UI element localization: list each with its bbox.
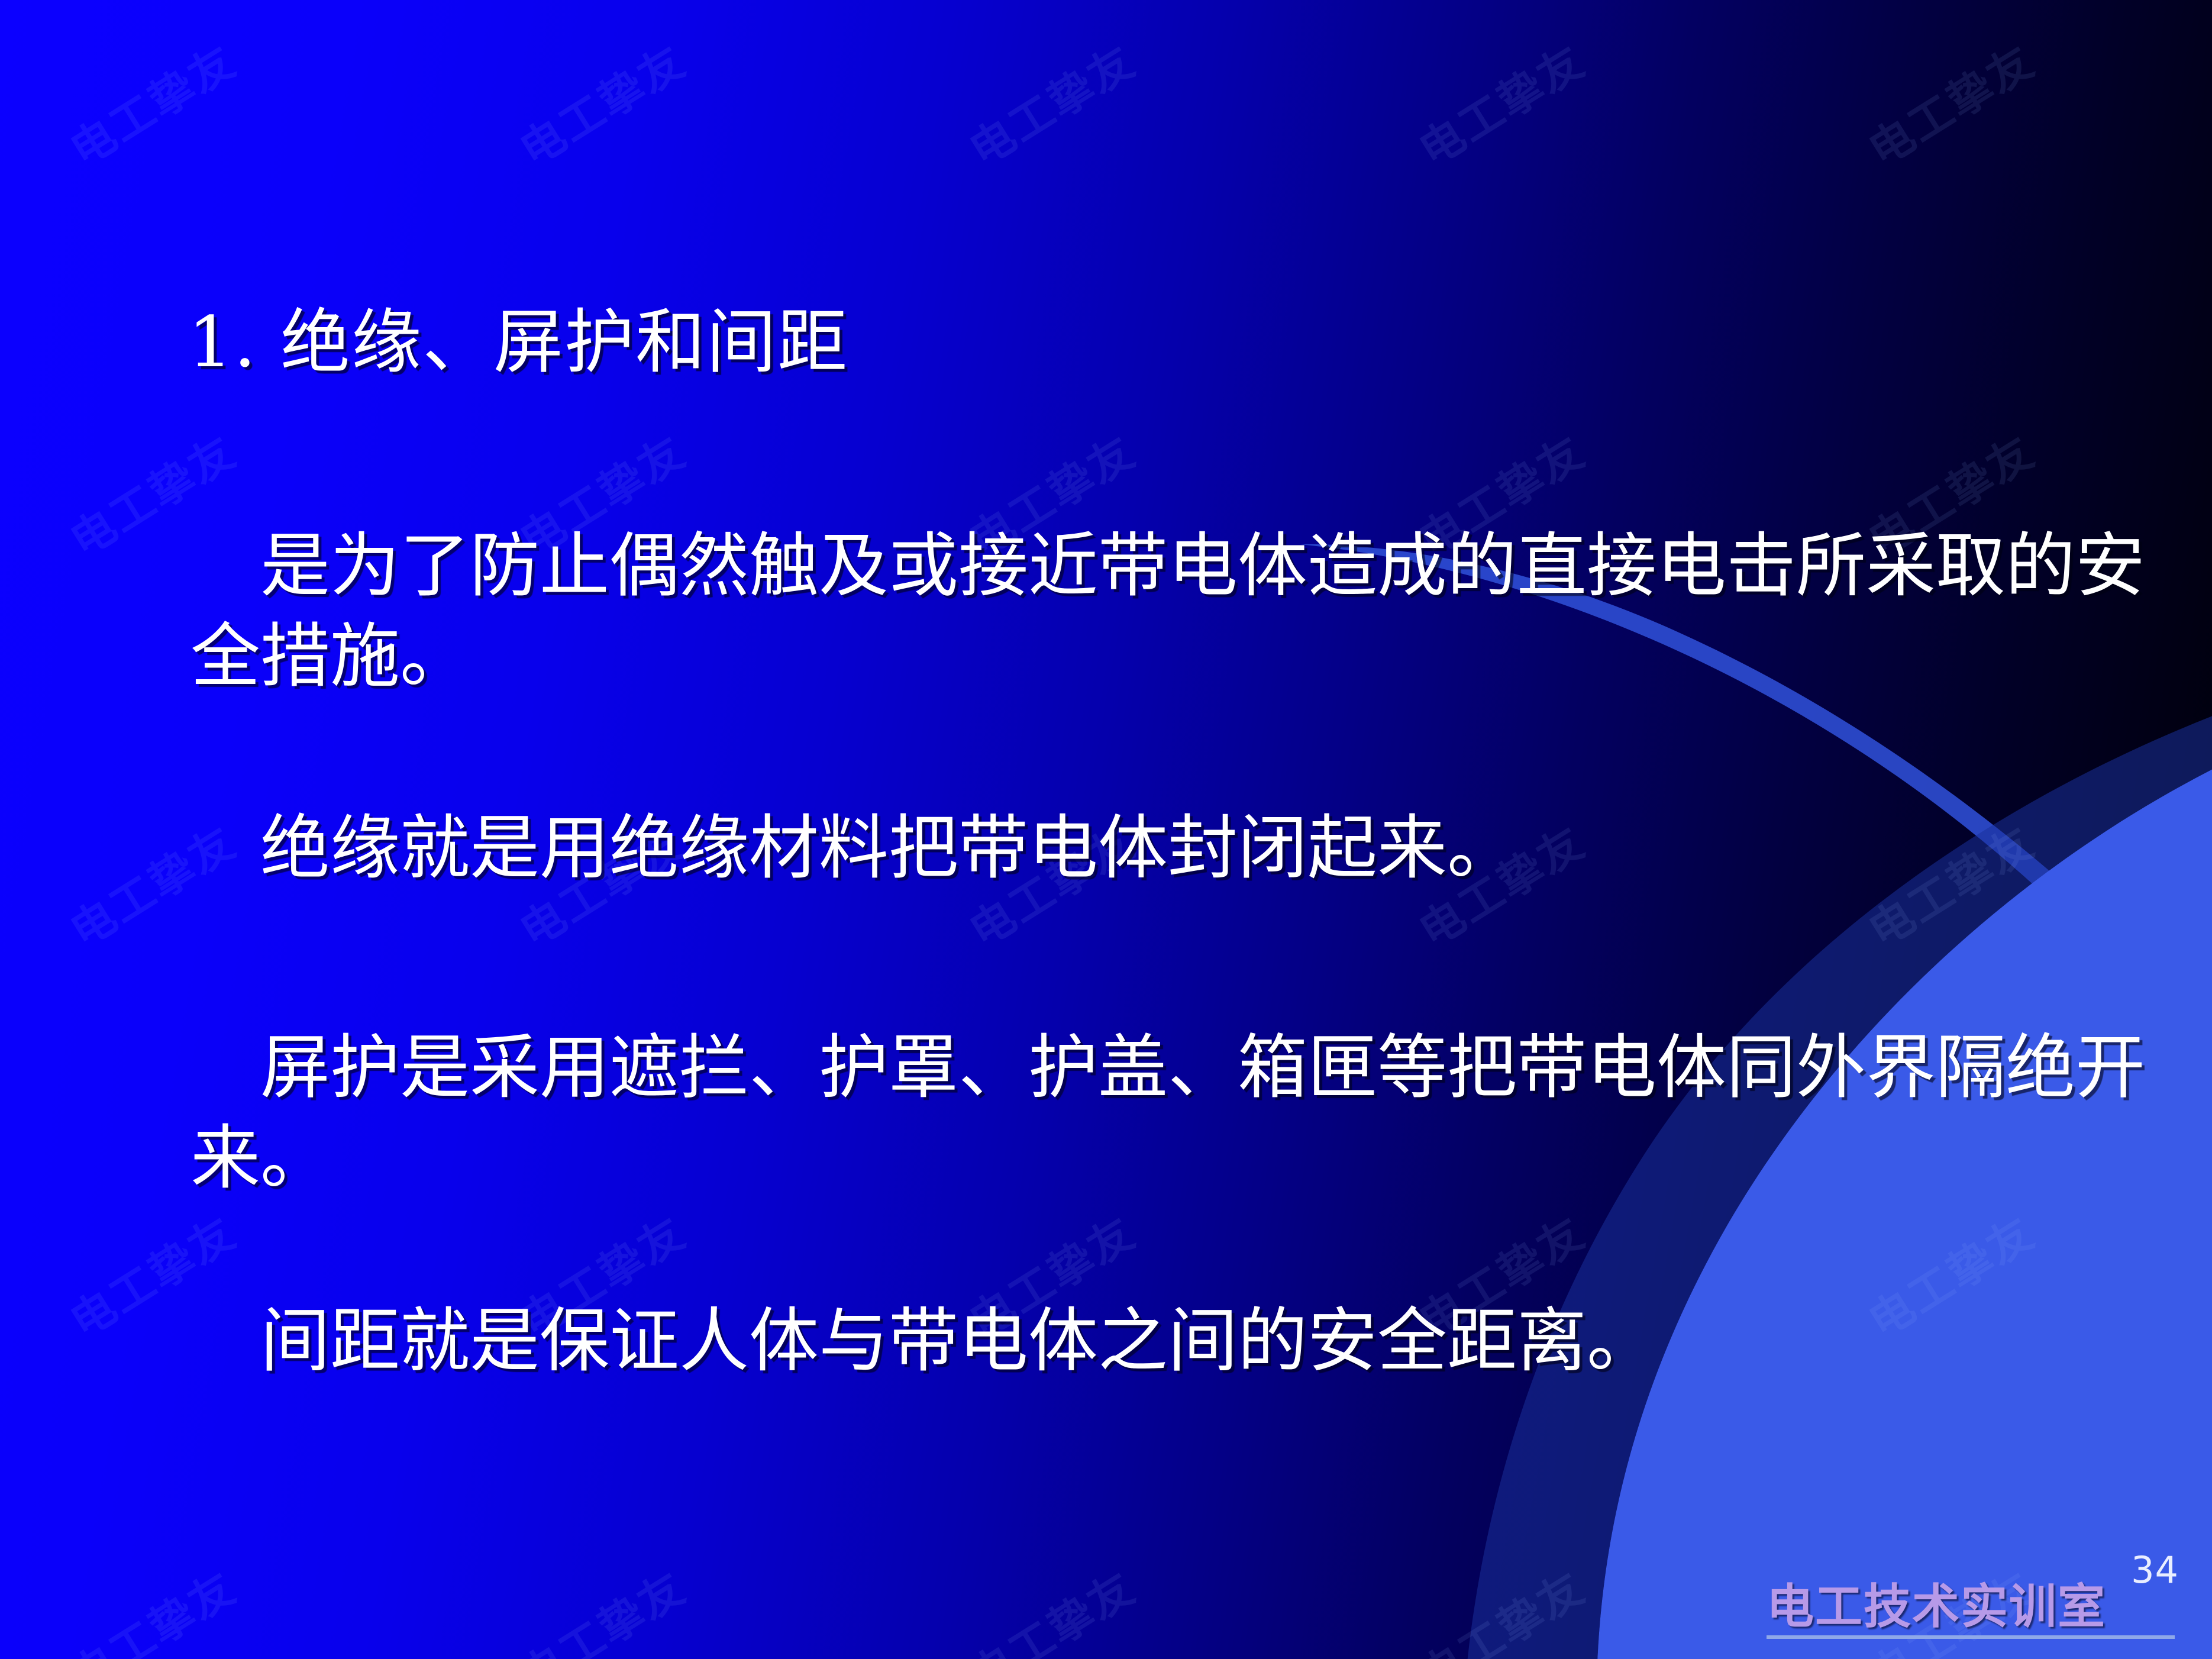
slide-content: 1. 绝缘、屏护和间距 是为了防止偶然触及或接近带电体造成的直接电击所采取的安全… <box>0 0 2212 1659</box>
body-paragraph-4: 间距就是保证人体与带电体之间的安全距离。 <box>190 1296 2212 1386</box>
brand-logo-underline <box>1767 1635 2175 1639</box>
body-paragraph-1: 是为了防止偶然触及或接近带电体造成的直接电击所采取的安全措施。 <box>190 521 2212 702</box>
body-paragraph-3: 屏护是采用遮拦、护罩、护盖、箱匣等把带电体同外界隔绝开来。 <box>190 1022 2212 1204</box>
body-paragraph-2: 绝缘就是用绝缘材料把带电体封闭起来。 <box>190 803 2212 893</box>
slide-canvas: 电工挚友 电工挚友 电工挚友 电工挚友 电工挚友 电工挚友 电工挚友 电工挚友 … <box>0 0 2212 1659</box>
slide-title: 1. 绝缘、屏护和间距 <box>188 305 848 379</box>
brand-logo-text: 电工技术实训室 <box>1767 1583 2175 1631</box>
brand-logo: 电工技术实训室 <box>1767 1583 2175 1639</box>
